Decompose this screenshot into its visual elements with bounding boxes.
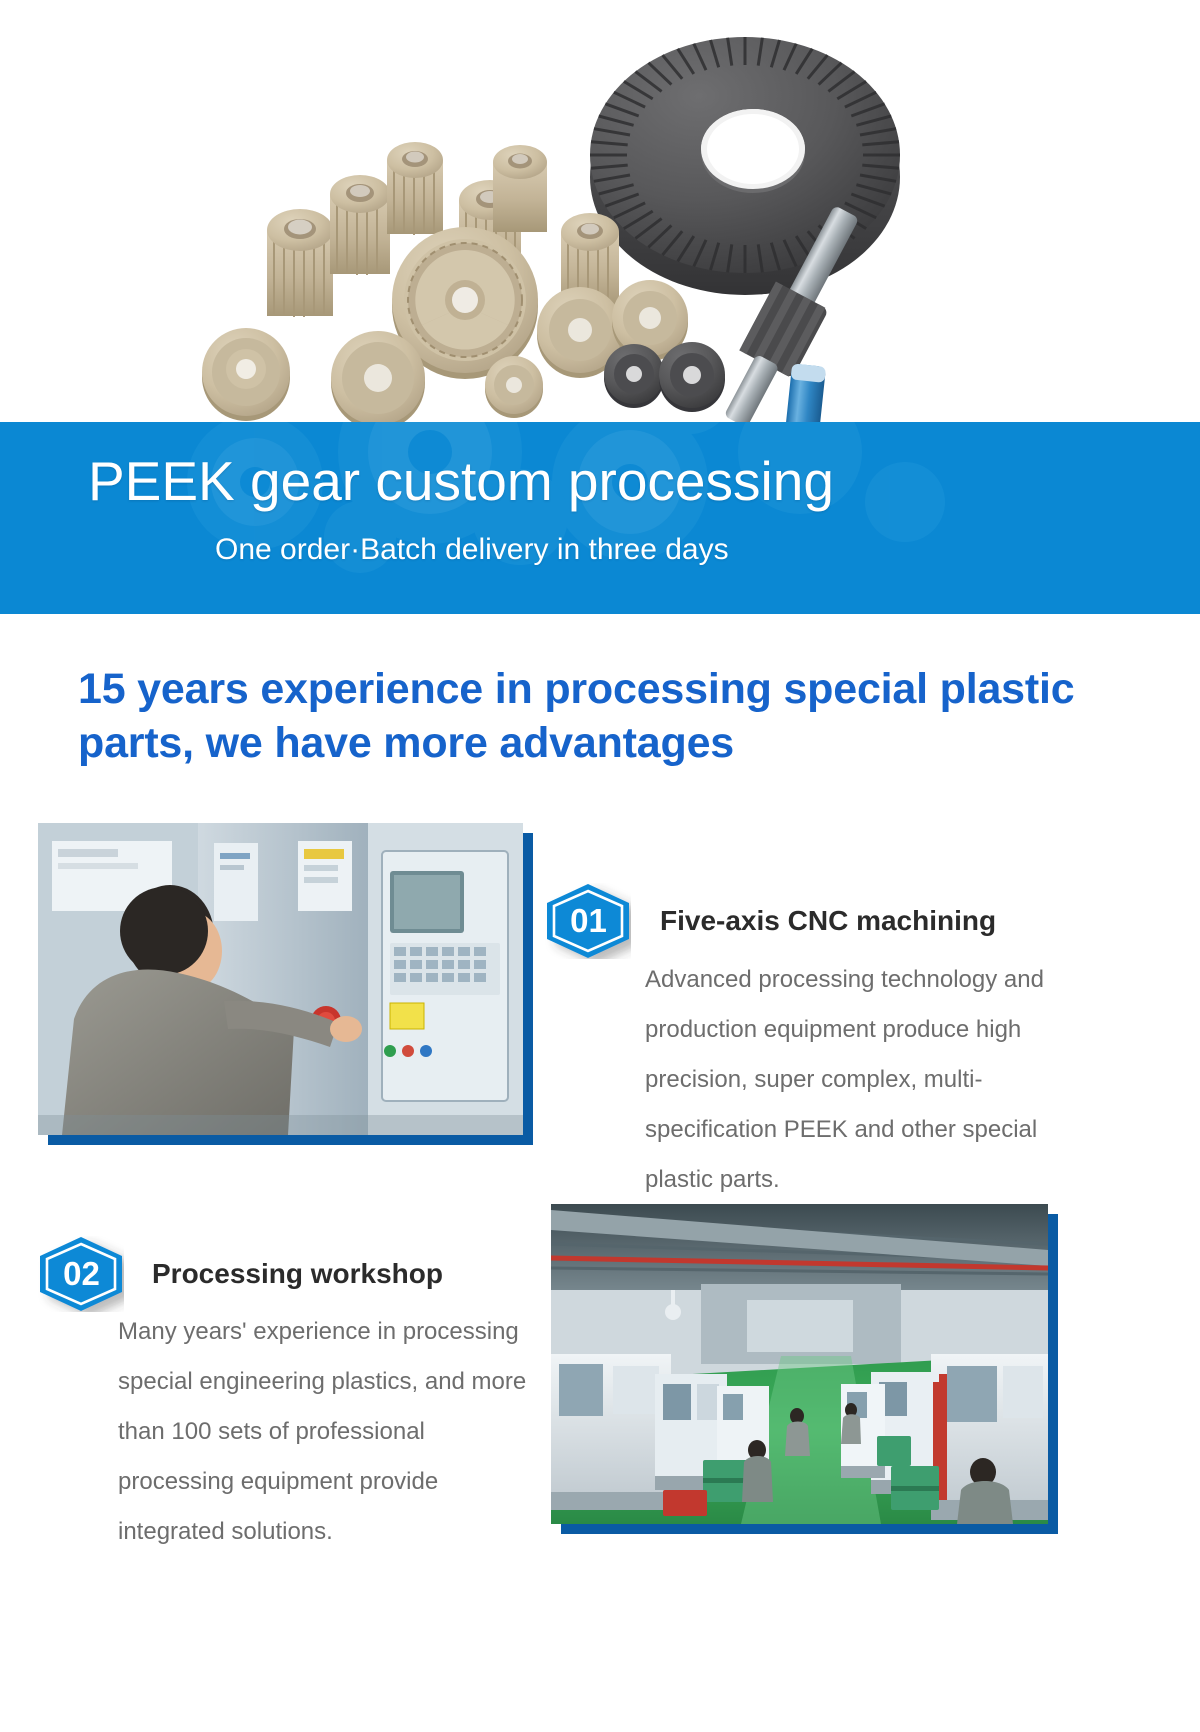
feature-body-02: Many years' experience in processing spe… <box>118 1307 530 1557</box>
feature-badge-02: 02 <box>38 1236 124 1312</box>
banner-subtitle: One order·Batch delivery in three days <box>215 530 729 570</box>
feature-badge-number: 02 <box>38 1236 124 1312</box>
feature-title-01: Five-axis CNC machining <box>660 903 996 939</box>
photo-image <box>551 1204 1048 1524</box>
feature-badge-01: 01 <box>545 883 631 959</box>
cnc-machining-photo <box>38 823 523 1135</box>
hero-banner: PEEK gear custom processing One order·Ba… <box>0 422 1200 614</box>
hero-product-image <box>0 0 1200 425</box>
product-detail-page: PEEK gear custom processing One order·Ba… <box>0 0 1200 1732</box>
banner-title: PEEK gear custom processing <box>88 448 834 514</box>
feature-badge-number: 01 <box>545 883 631 959</box>
workshop-photo <box>551 1204 1048 1524</box>
photo-image <box>38 823 523 1135</box>
section-headline: 15 years experience in processing specia… <box>78 662 1088 770</box>
feature-title-02: Processing workshop <box>152 1256 443 1292</box>
feature-body-01: Advanced processing technology and produ… <box>645 955 1087 1205</box>
